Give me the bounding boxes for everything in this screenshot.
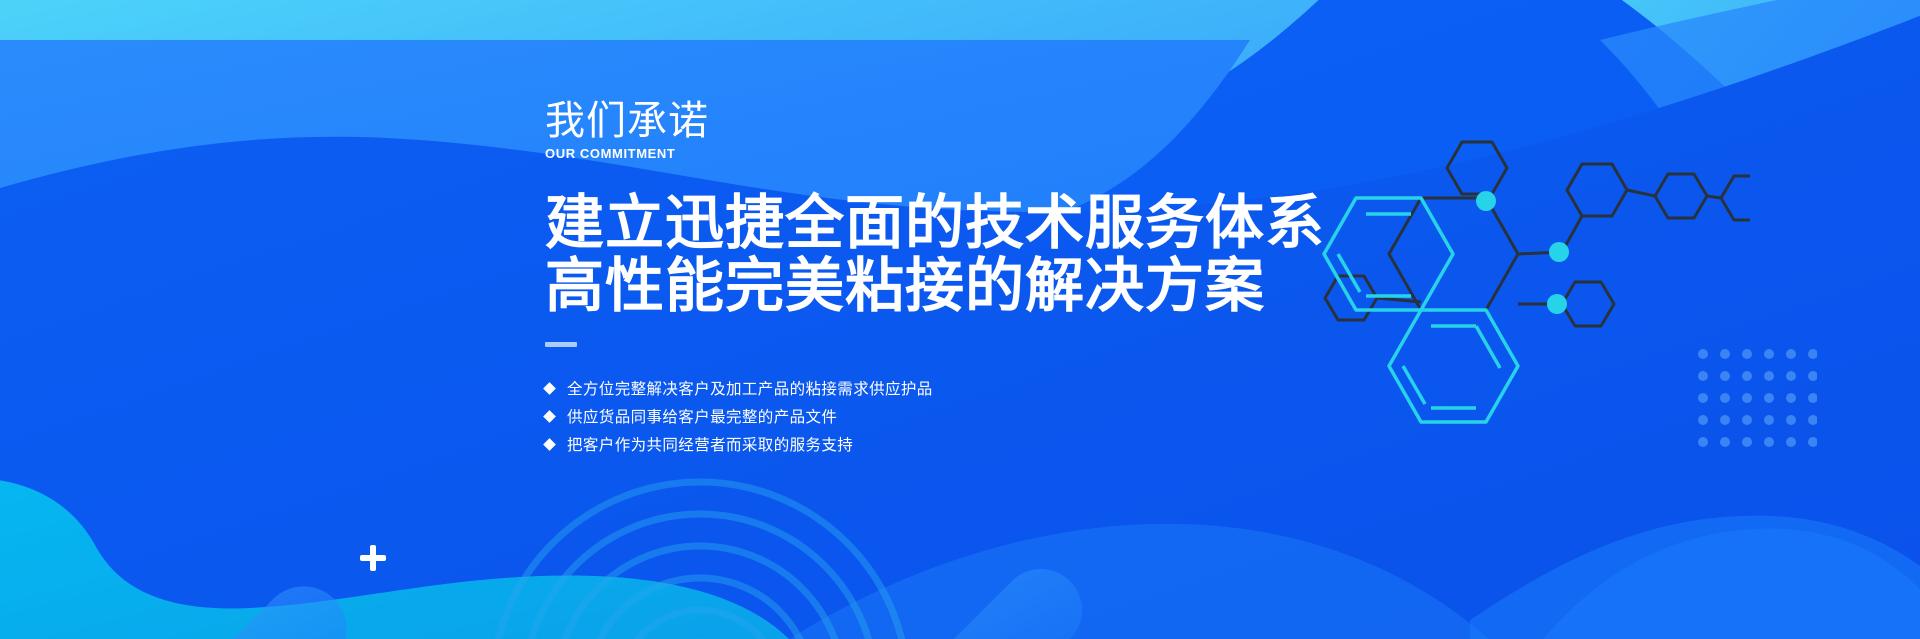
list-item: 全方位完整解决客户及加工产品的粘接需求供应护品 [545, 374, 1345, 402]
molecule-graphic [1310, 130, 1750, 430]
divider-rule [545, 342, 577, 347]
list-item: 供应货品同事给客户最完整的产品文件 [545, 402, 1345, 430]
promo-banner: 我们承诺 OUR COMMITMENT 建立迅捷全面的技术服务体系 高性能完美粘… [0, 0, 1920, 639]
hexagon-cyan-lower [1389, 310, 1518, 422]
hexagon-dark-right-3 [1721, 176, 1750, 220]
list-item-label: 全方位完整解决客户及加工产品的粘接需求供应护品 [567, 377, 933, 399]
molecule-node-1 [1476, 191, 1496, 211]
plus-icon [360, 545, 386, 571]
list-item-label: 把客户作为共同经营者而采取的服务支持 [567, 433, 853, 455]
banner-content: 我们承诺 OUR COMMITMENT 建立迅捷全面的技术服务体系 高性能完美粘… [545, 98, 1345, 458]
bullet-list: 全方位完整解决客户及加工产品的粘接需求供应护品 供应货品同事给客户最完整的产品文… [545, 374, 1345, 458]
bond-right-chain-1 [1627, 190, 1655, 196]
hexagon-dark-right-2 [1655, 174, 1707, 218]
headline: 建立迅捷全面的技术服务体系 高性能完美粘接的解决方案 [545, 192, 1345, 318]
bond-right-chain-2 [1707, 196, 1721, 198]
hexagon-dark-top [1447, 142, 1507, 194]
diamond-icon [543, 382, 556, 395]
hexagon-dark-right-1 [1567, 164, 1627, 216]
eyebrow-title-cn: 我们承诺 [545, 98, 1345, 144]
diamond-icon [543, 438, 556, 451]
molecule-node-3 [1547, 294, 1567, 314]
list-item-label: 供应货品同事给客户最完整的产品文件 [567, 405, 837, 427]
dot-grid-decoration [1697, 348, 1817, 448]
list-item: 把客户作为共同经营者而采取的服务支持 [545, 430, 1345, 458]
hexagon-dark-low-right [1562, 282, 1614, 326]
molecule-node-2 [1549, 242, 1569, 262]
diamond-icon [543, 410, 556, 423]
eyebrow-title-en: OUR COMMITMENT [545, 146, 1345, 162]
headline-line-1: 建立迅捷全面的技术服务体系 [545, 192, 1345, 255]
headline-line-2: 高性能完美粘接的解决方案 [545, 255, 1345, 318]
